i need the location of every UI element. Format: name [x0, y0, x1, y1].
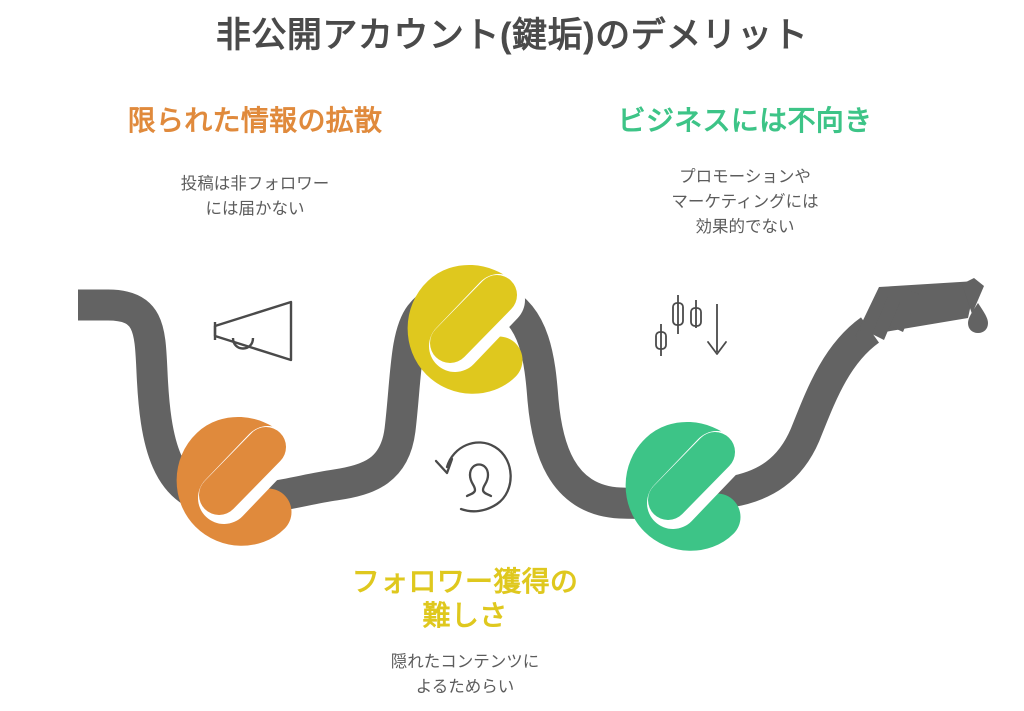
body-right-line3: 効果的でない: [580, 215, 910, 240]
declining-candlestick-chart-icon: [652, 292, 747, 362]
orange-knot: [200, 440, 268, 522]
section-heading-right: ビジネスには不向き: [545, 104, 945, 138]
body-right-line1: プロモーションや: [580, 165, 910, 190]
returning-user-icon: [425, 433, 520, 518]
green-knot: [649, 445, 717, 527]
rope-brush-tip: [855, 278, 988, 346]
person-head-left: [467, 475, 475, 496]
heading-bottom-line1: フォロワー獲得の: [315, 565, 615, 599]
infographic-canvas: 非公開アカウント(鍵垢)のデメリット: [0, 0, 1024, 711]
body-left-line2: には届かない: [85, 197, 425, 222]
megaphone-icon: [205, 288, 305, 368]
yellow-knot: [431, 288, 499, 370]
section-body-left: 投稿は非フォロワー には届かない: [85, 172, 425, 222]
section-heading-bottom: フォロワー獲得の 難しさ: [315, 565, 615, 633]
body-bottom-line2: よるためらい: [330, 675, 600, 700]
megaphone-cone: [215, 302, 291, 360]
body-right-line2: マーケティングには: [580, 190, 910, 215]
refresh-arc: [447, 442, 511, 511]
section-heading-left: 限られた情報の拡散: [55, 104, 455, 138]
person-head-right: [470, 465, 491, 497]
heading-bottom-line2: 難しさ: [315, 599, 615, 633]
section-body-right: プロモーションや マーケティングには 効果的でない: [580, 165, 910, 239]
body-bottom-line1: 隠れたコンテンツに: [330, 650, 600, 675]
body-left-line1: 投稿は非フォロワー: [85, 172, 425, 197]
section-body-bottom: 隠れたコンテンツに よるためらい: [330, 650, 600, 700]
